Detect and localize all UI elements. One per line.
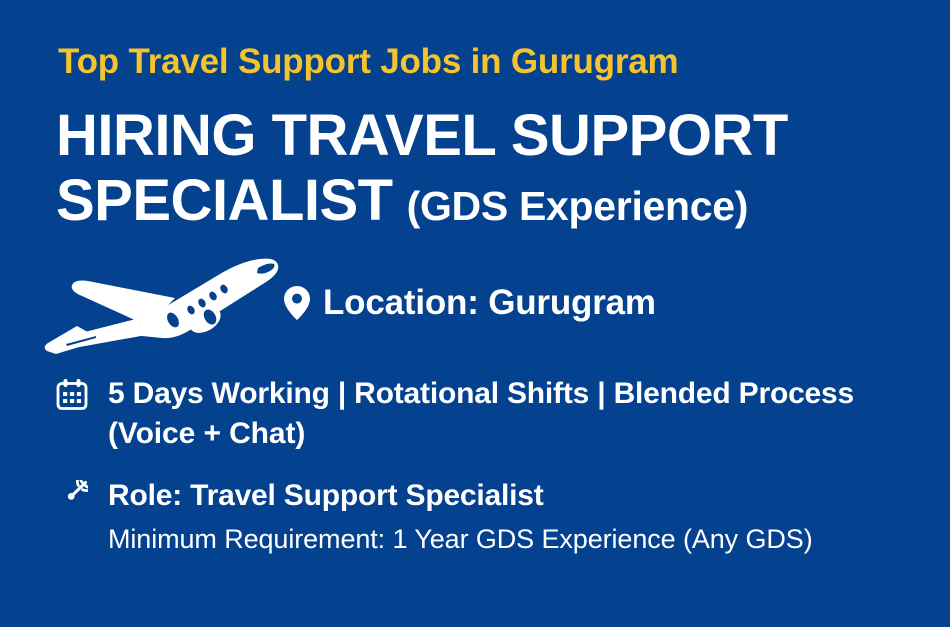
title-line-2: SPECIALIST(GDS Experience) [56, 169, 916, 234]
page-title: HIRING TRAVEL SUPPORT SPECIALIST(GDS Exp… [56, 104, 916, 234]
poster-kicker: Top Travel Support Jobs in Gurugram [58, 44, 678, 81]
detail-body-role: Role: Travel Support Specialist Minimum … [92, 476, 813, 558]
calendar-icon [56, 374, 92, 410]
target-icon [56, 476, 92, 512]
title-suffix: (GDS Experience) [393, 183, 749, 229]
location-row: Location: Gurugram [284, 283, 656, 323]
details-list: 5 Days Working | Rotational Shifts | Ble… [56, 374, 936, 578]
schedule-note: (Voice + Chat) [108, 414, 854, 454]
role-text: Role: Travel Support Specialist [108, 476, 813, 516]
detail-body-schedule: 5 Days Working | Rotational Shifts | Ble… [92, 374, 854, 454]
title-line-1: HIRING TRAVEL SUPPORT [56, 104, 916, 169]
schedule-text: 5 Days Working | Rotational Shifts | Ble… [108, 374, 854, 414]
detail-row-schedule: 5 Days Working | Rotational Shifts | Ble… [56, 374, 936, 454]
requirement-text: Minimum Requirement: 1 Year GDS Experien… [108, 521, 813, 557]
job-poster: Top Travel Support Jobs in Gurugram HIRI… [0, 0, 950, 627]
map-pin-icon [284, 286, 310, 320]
title-line-2-main: SPECIALIST [56, 168, 393, 233]
location-label: Location: Gurugram [323, 283, 656, 323]
airplane-icon [44, 248, 282, 360]
detail-row-role: Role: Travel Support Specialist Minimum … [56, 476, 936, 558]
